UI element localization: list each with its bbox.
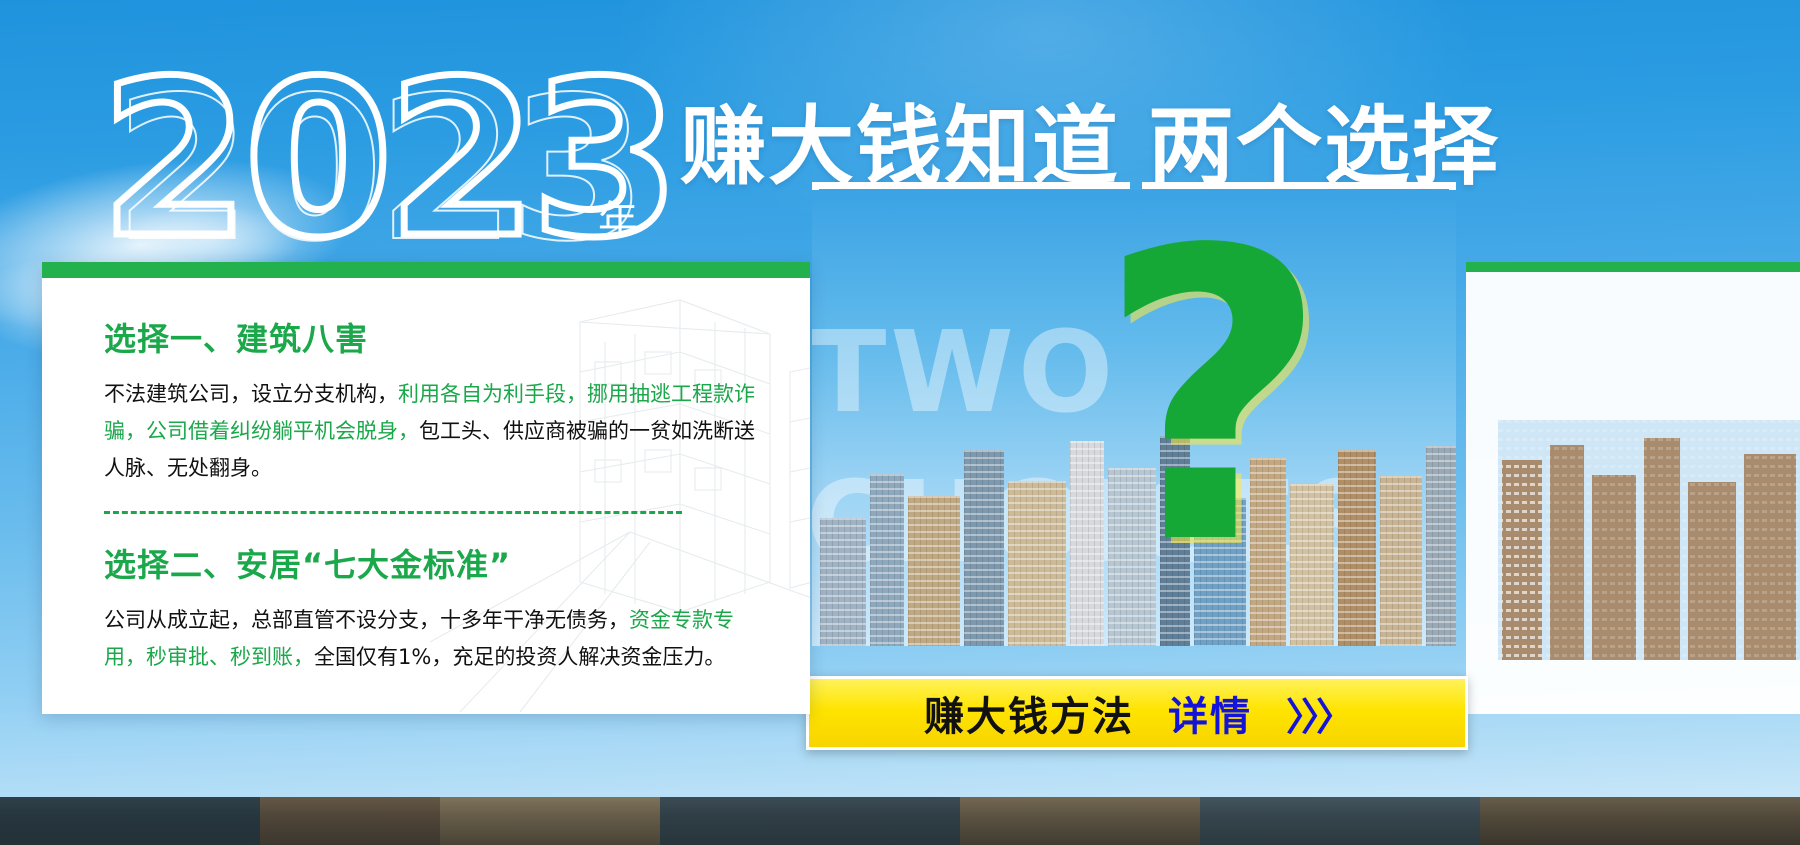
- cta-banner[interactable]: 赚大钱方法 详情 〉〉〉: [806, 676, 1468, 750]
- card-top-green-bar: [42, 262, 810, 278]
- section-2-body: 公司从成立起，总部直管不设分支，十多年干净无债务，资金专款专用，秒审批、秒到账，…: [104, 602, 774, 676]
- year-suffix-label: 年: [598, 188, 638, 246]
- section-1-title: 选择一、建筑八害: [104, 314, 774, 360]
- bottom-strip: [0, 797, 1800, 845]
- section-2-text-c: 全国仅有1%，充足的投资人解决资金压力。: [314, 645, 725, 669]
- cta-main-label: 赚大钱方法: [924, 684, 1134, 742]
- right-skyline-photo: [1498, 420, 1800, 660]
- section-2-text-a: 公司从成立起，总部直管不设分支，十多年干净无债务，: [104, 608, 629, 632]
- content-card: 选择一、建筑八害 不法建筑公司，设立分支机构，利用各自为利手段，挪用抽逃工程款诈…: [42, 262, 810, 714]
- cta-link-label[interactable]: 详情: [1168, 684, 1252, 742]
- section-divider: [104, 511, 682, 514]
- skyline-illustration: [1498, 420, 1800, 660]
- section-1-body: 不法建筑公司，设立分支机构，利用各自为利手段，挪用抽逃工程款诈骗，公司借着纠纷躺…: [104, 376, 774, 487]
- question-mark-icon: ?: [1097, 200, 1329, 600]
- right-green-bar: [1466, 262, 1800, 272]
- section-1-text-a: 不法建筑公司，设立分支机构，: [104, 382, 398, 406]
- headline-rule-left: [812, 182, 1130, 189]
- poster-canvas: 2023 2023 年 赚大钱知道两个选择: [0, 0, 1800, 845]
- headline-rule-right: [1142, 182, 1456, 189]
- choice-visual-panel: TWO CHOICES ?: [812, 190, 1456, 646]
- chevron-right-icon: 〉〉〉: [1286, 686, 1350, 741]
- section-2-title: 选择二、安居“七大金标准”: [104, 540, 774, 586]
